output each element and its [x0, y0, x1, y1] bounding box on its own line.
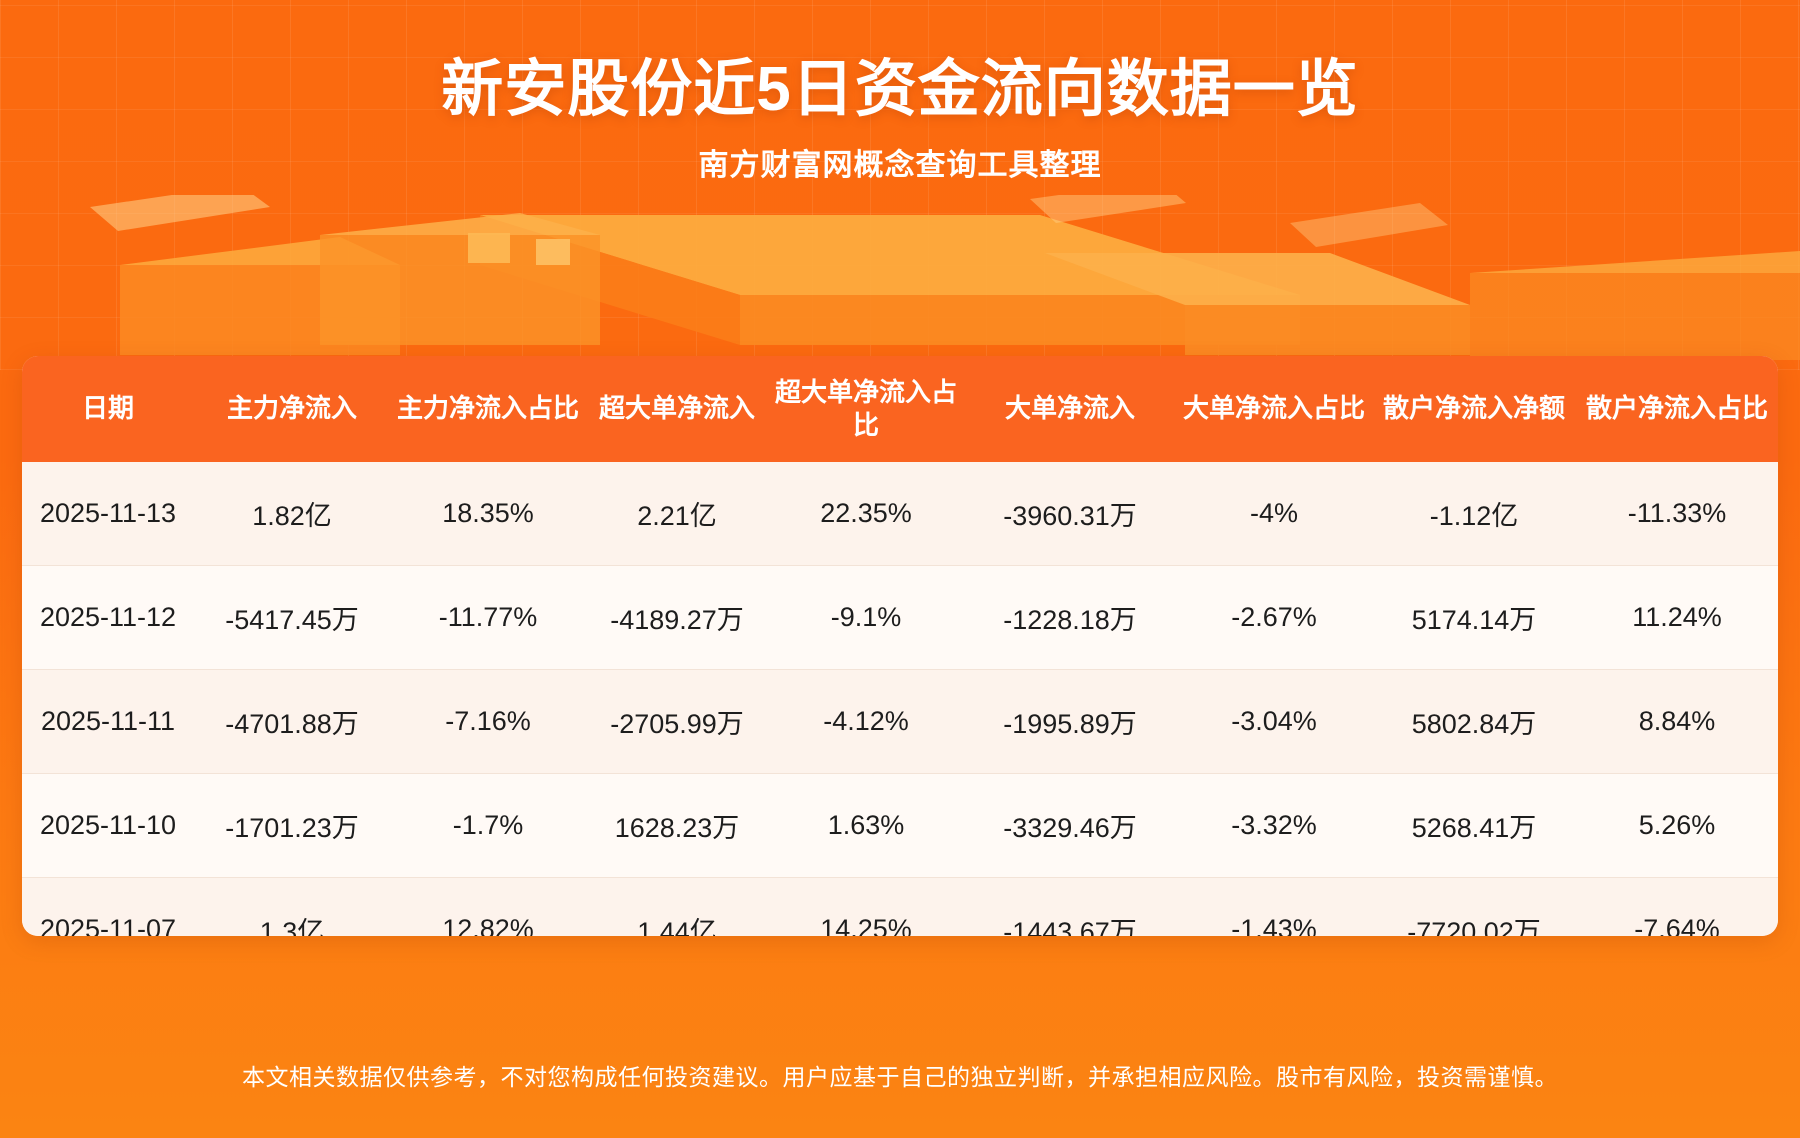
fund-flow-table: 日期 主力净流入 主力净流入占比 超大单净流入 超大单净流入占比 大单净流入 大…	[22, 356, 1778, 936]
page-title: 新安股份近5日资金流向数据一览	[0, 38, 1800, 128]
cell-main-net: -4701.88万	[194, 670, 390, 774]
cell-main-net: -5417.45万	[194, 566, 390, 670]
table-row[interactable]: 2025-11-11 -4701.88万 -7.16% -2705.99万 -4…	[22, 670, 1778, 774]
table-row[interactable]: 2025-11-12 -5417.45万 -11.77% -4189.27万 -…	[22, 566, 1778, 670]
cell-lg-net: -1443.67万	[964, 878, 1176, 937]
cell-main-pct: -1.7%	[390, 774, 586, 878]
table-body: 2025-11-13 1.82亿 18.35% 2.21亿 22.35% -39…	[22, 462, 1778, 936]
cell-date: 2025-11-11	[22, 670, 194, 774]
cell-xl-net: -2705.99万	[586, 670, 768, 774]
column-header-large-pct[interactable]: 大单净流入占比	[1176, 356, 1372, 462]
cell-xl-pct: 22.35%	[768, 462, 964, 566]
cell-retail-net: 5268.41万	[1372, 774, 1576, 878]
page-subtitle: 南方财富网概念查询工具整理	[0, 140, 1800, 184]
column-header-retail-pct[interactable]: 散户净流入占比	[1576, 356, 1778, 462]
cell-xl-pct: -4.12%	[768, 670, 964, 774]
cell-main-pct: 18.35%	[390, 462, 586, 566]
cell-date: 2025-11-10	[22, 774, 194, 878]
cell-lg-net: -3329.46万	[964, 774, 1176, 878]
cell-lg-pct: -3.32%	[1176, 774, 1372, 878]
column-header-main-pct[interactable]: 主力净流入占比	[390, 356, 586, 462]
isometric-blocks-decoration	[0, 195, 1800, 375]
cell-retail-net: -7720.02万	[1372, 878, 1576, 937]
cell-lg-net: -1995.89万	[964, 670, 1176, 774]
cell-xl-net: -4189.27万	[586, 566, 768, 670]
table-header-row: 日期 主力净流入 主力净流入占比 超大单净流入 超大单净流入占比 大单净流入 大…	[22, 356, 1778, 462]
cell-xl-net: 1.44亿	[586, 878, 768, 937]
column-header-main-net[interactable]: 主力净流入	[194, 356, 390, 462]
table-row[interactable]: 2025-11-10 -1701.23万 -1.7% 1628.23万 1.63…	[22, 774, 1778, 878]
cell-retail-net: 5802.84万	[1372, 670, 1576, 774]
cell-retail-pct: 5.26%	[1576, 774, 1778, 878]
cell-xl-pct: 1.63%	[768, 774, 964, 878]
cell-lg-pct: -2.67%	[1176, 566, 1372, 670]
column-header-extra-large-pct[interactable]: 超大单净流入占比	[768, 356, 964, 462]
cell-lg-pct: -3.04%	[1176, 670, 1372, 774]
column-header-retail-net[interactable]: 散户净流入净额	[1372, 356, 1576, 462]
cell-lg-pct: -1.43%	[1176, 878, 1372, 937]
data-table-card: 南方财富网 Southmoney.com 日期 主力净流入 主力净流入占比 超大…	[22, 356, 1778, 936]
cell-xl-pct: -9.1%	[768, 566, 964, 670]
column-header-extra-large-net[interactable]: 超大单净流入	[586, 356, 768, 462]
cell-date: 2025-11-12	[22, 566, 194, 670]
cell-date: 2025-11-13	[22, 462, 194, 566]
cell-xl-net: 2.21亿	[586, 462, 768, 566]
table-row[interactable]: 2025-11-07 1.3亿 12.82% 1.44亿 14.25% -144…	[22, 878, 1778, 937]
cell-retail-pct: 8.84%	[1576, 670, 1778, 774]
cell-lg-pct: -4%	[1176, 462, 1372, 566]
cell-lg-net: -3960.31万	[964, 462, 1176, 566]
cell-retail-pct: 11.24%	[1576, 566, 1778, 670]
cell-main-net: -1701.23万	[194, 774, 390, 878]
disclaimer-text: 本文相关数据仅供参考，不对您构成任何投资建议。用户应基于自己的独立判断，并承担相…	[0, 1058, 1800, 1092]
table-row[interactable]: 2025-11-13 1.82亿 18.35% 2.21亿 22.35% -39…	[22, 462, 1778, 566]
cell-main-net: 1.3亿	[194, 878, 390, 937]
cell-retail-net: -1.12亿	[1372, 462, 1576, 566]
cell-retail-pct: -7.64%	[1576, 878, 1778, 937]
cell-date: 2025-11-07	[22, 878, 194, 937]
cell-retail-pct: -11.33%	[1576, 462, 1778, 566]
cell-main-net: 1.82亿	[194, 462, 390, 566]
poster-root: 新安股份近5日资金流向数据一览 南方财富网概念查询工具整理 南方财富网 Sout…	[0, 0, 1800, 1138]
table-header: 日期 主力净流入 主力净流入占比 超大单净流入 超大单净流入占比 大单净流入 大…	[22, 356, 1778, 462]
cell-xl-net: 1628.23万	[586, 774, 768, 878]
column-header-large-net[interactable]: 大单净流入	[964, 356, 1176, 462]
column-header-date[interactable]: 日期	[22, 356, 194, 462]
cell-main-pct: -11.77%	[390, 566, 586, 670]
cell-xl-pct: 14.25%	[768, 878, 964, 937]
cell-retail-net: 5174.14万	[1372, 566, 1576, 670]
cell-main-pct: -7.16%	[390, 670, 586, 774]
cell-main-pct: 12.82%	[390, 878, 586, 937]
cell-lg-net: -1228.18万	[964, 566, 1176, 670]
